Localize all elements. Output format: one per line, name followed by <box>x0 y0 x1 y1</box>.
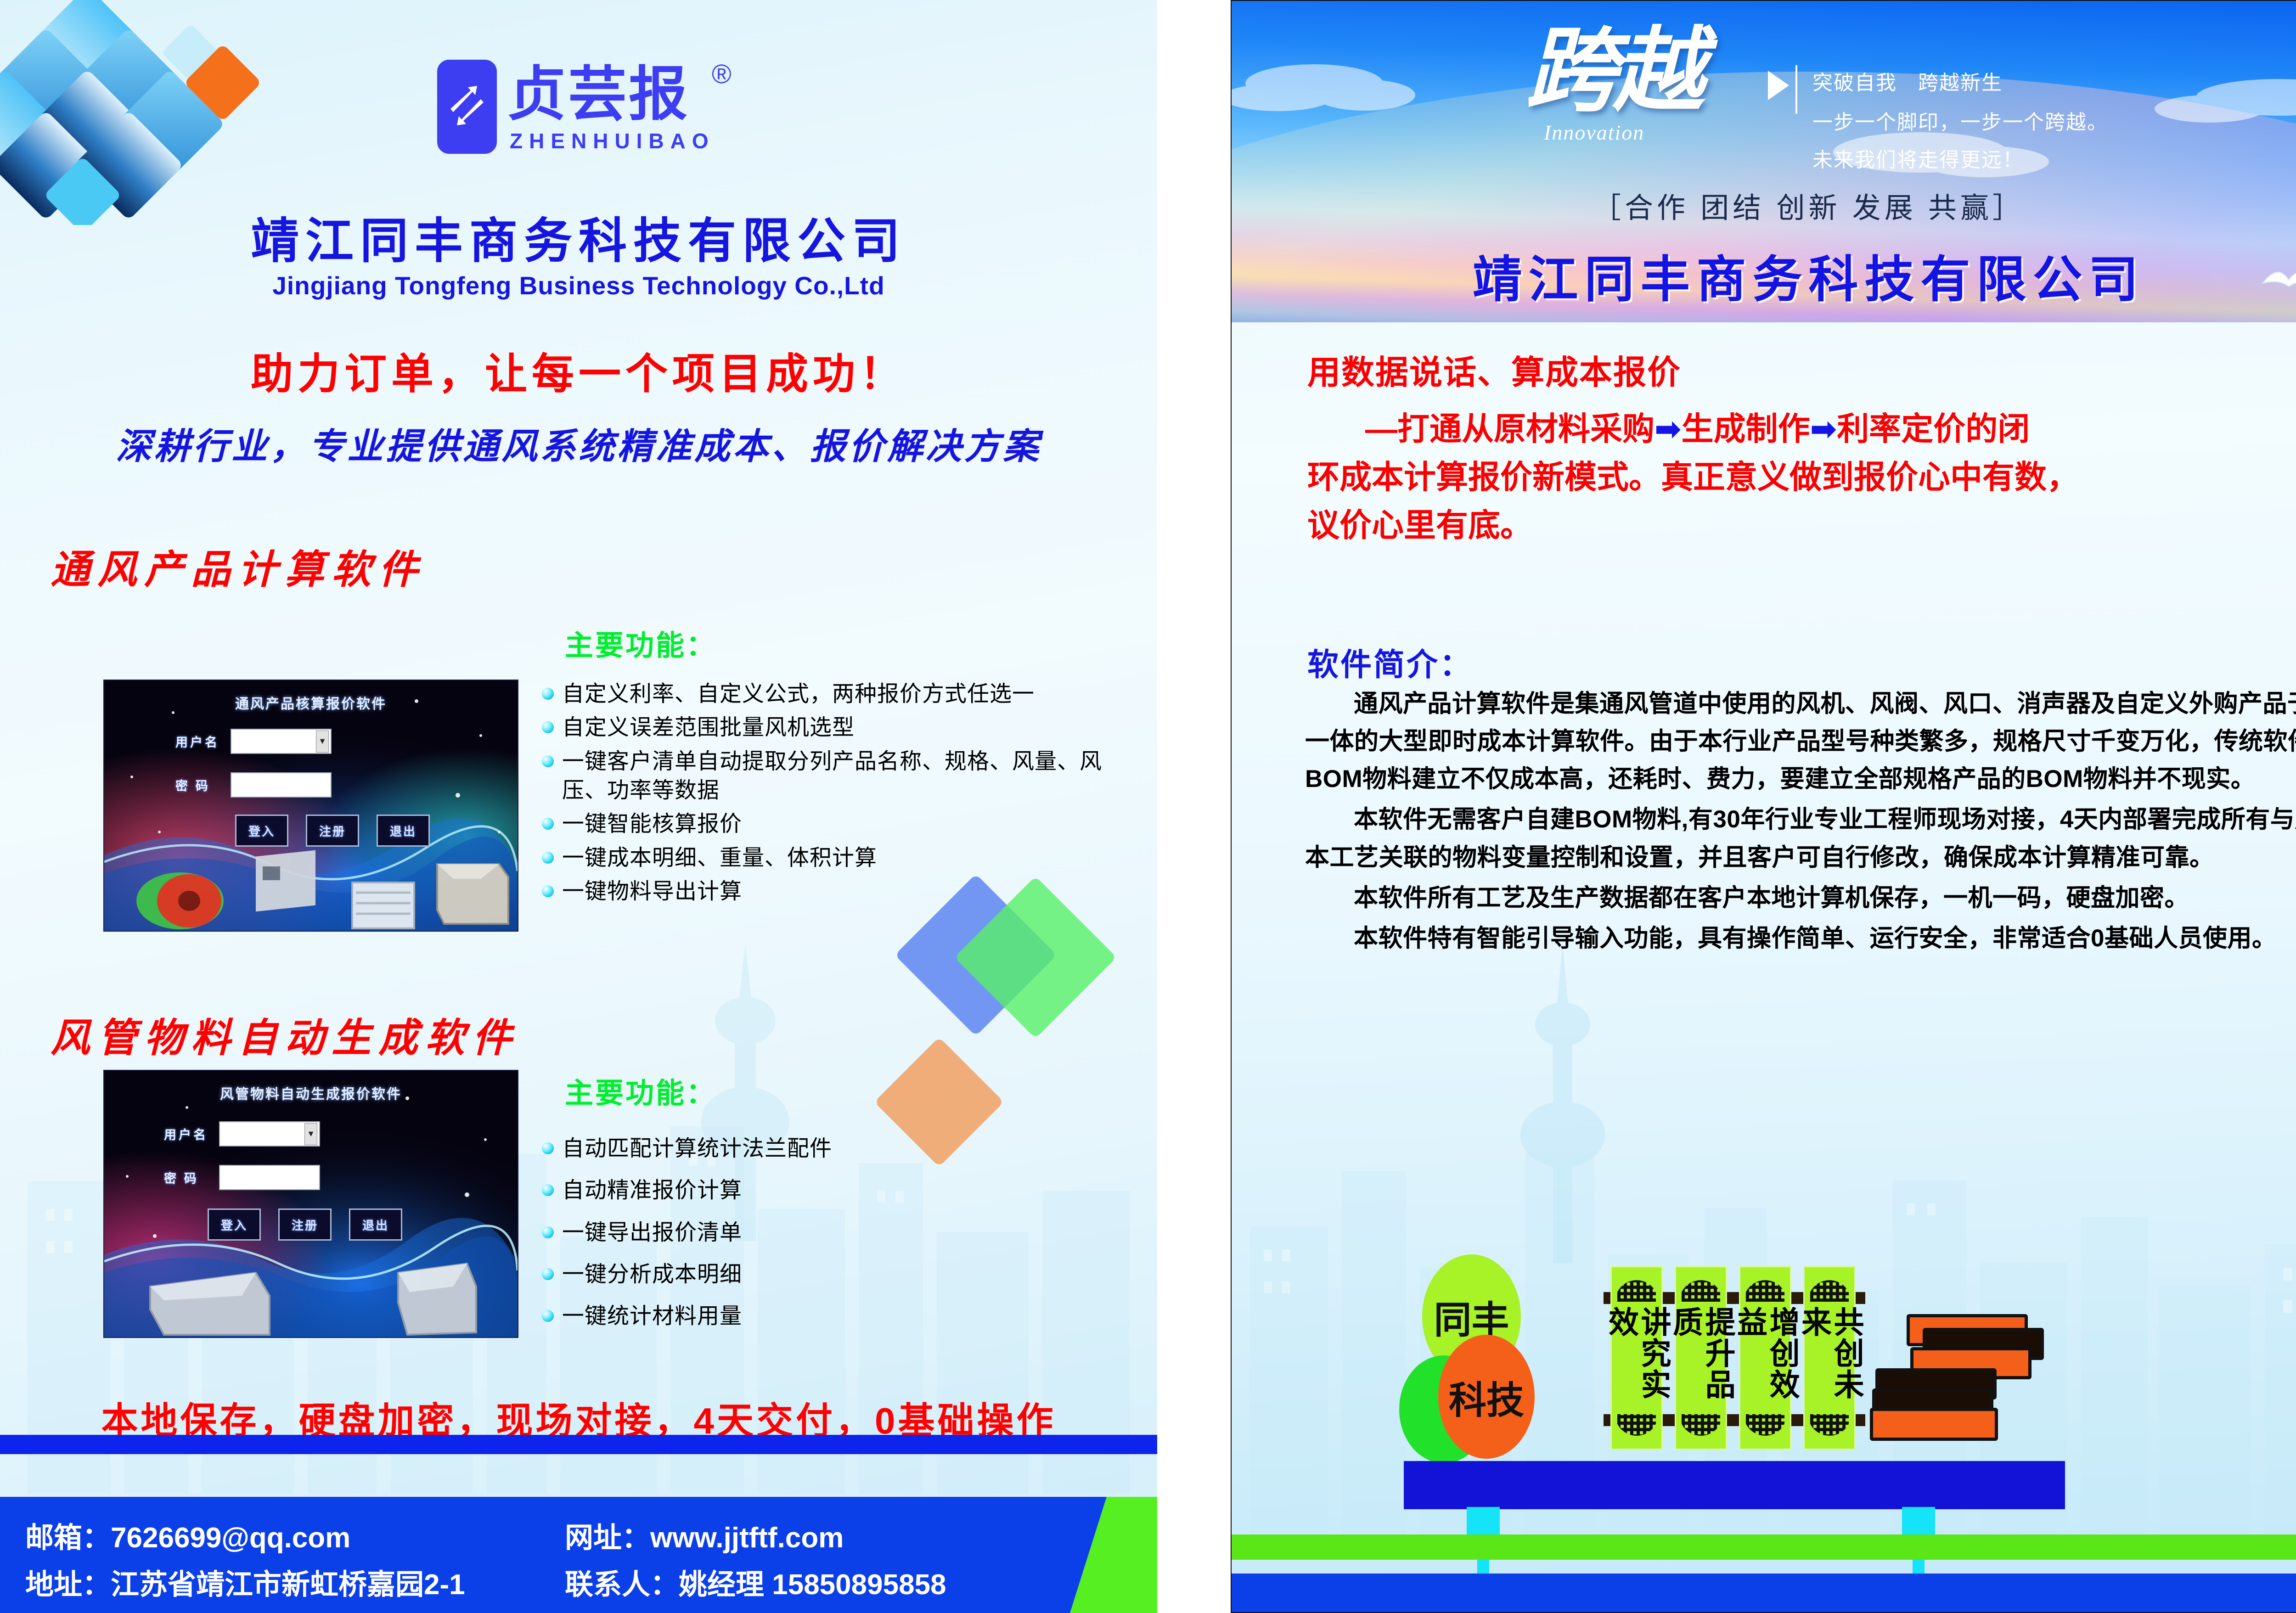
right-hero-banner: 跨越 Innovation 突破自我 跨越新生 一步一个脚印，一步一个跨越。 未… <box>1232 1 2296 322</box>
feature-text: 自动精准报价计算 <box>562 1176 742 1205</box>
section-2-features-heading: 主要功能： <box>565 1070 716 1111</box>
section-1-feature-list: 自定义利率、自定义公式，两种报价方式任选一 自定义误差范围批量风机选型 一键客户… <box>542 680 1125 911</box>
right-green-bar <box>1232 1534 2296 1560</box>
footer-address: 地址：江苏省靖江市新虹桥嘉园2-1 <box>25 1561 465 1602</box>
section-1-features-heading: 主要功能： <box>565 622 716 663</box>
arrow-right-icon-1: ➡ <box>1654 411 1682 447</box>
feature-text: 一键智能核算报价 <box>562 809 742 838</box>
banner-1-text: 讲究实效 <box>1604 1306 1669 1410</box>
right-red-paragraph: —打通从原材料采购➡生成制作➡利率定价的闭 环成本计算报价新模式。真正意义做到报… <box>1307 405 2296 550</box>
list-item: 一键统计材料用量 <box>542 1302 1125 1331</box>
bullet-icon <box>542 688 554 700</box>
section-2-title: 风管物料自动生成软件 <box>51 1006 519 1063</box>
screenshot-2-register-button[interactable]: 注册 <box>278 1208 332 1241</box>
list-item: 一键分析成本明细 <box>542 1260 1125 1289</box>
feature-text: 一键成本明细、重量、体积计算 <box>562 843 877 872</box>
bullet-icon <box>542 1268 554 1280</box>
screenshot-2-title: 风管物料自动生成报价软件 <box>104 1083 518 1103</box>
bottom-illustration: 同丰 科技 讲究实效 提升品质 增创效益 <box>1383 1222 2164 1585</box>
feature-text: 一键客户清单自动提取分列产品名称、规格、风量、风压、功率等数据 <box>562 747 1125 805</box>
right-blue-bar <box>1232 1574 2296 1613</box>
left-company-name-cn: 靖江同丰商务科技有限公司 <box>0 202 1157 272</box>
screenshot-2-password-label: 密 码 <box>164 1169 219 1186</box>
left-company-name-en: Jingjiang Tongfeng Business Technology C… <box>0 271 1157 300</box>
bubble-tongfeng-label: 同丰 <box>1434 1289 1509 1344</box>
bullet-icon <box>542 885 554 897</box>
intro-paragraph-4: 本软件特有智能引导输入功能，具有操作简单、运行安全，非常适合0基础人员使用。 <box>1305 920 2296 957</box>
feature-text: 自定义误差范围批量风机选型 <box>562 713 855 742</box>
intro-paragraph-2: 本软件无需客户自建BOM物料,有30年行业专业工程师现场对接，4天内部署完成所有… <box>1305 801 2296 876</box>
logo-english-text: ZHENHUIBAO <box>510 129 715 153</box>
diamond-mosaic-decoration <box>0 0 262 225</box>
banner-4-text: 共创未来 <box>1797 1306 1862 1410</box>
feature-text: 一键导出报价清单 <box>562 1218 742 1247</box>
footer-contact-label: 联系人： <box>565 1569 679 1601</box>
list-item: 一键成本明细、重量、体积计算 <box>542 843 1125 872</box>
banner-ornament-icon <box>1810 1272 1849 1302</box>
screenshot-2-password-input[interactable] <box>219 1165 320 1190</box>
banner-ornament-icon <box>1810 1414 1849 1444</box>
chevron-down-icon[interactable]: ▼ <box>304 1123 317 1145</box>
screenshot-1-password-label: 密 码 <box>175 776 231 794</box>
footer-address-value: 江苏省靖江市新虹桥嘉园2-1 <box>111 1569 465 1601</box>
banner-ornament-icon <box>1617 1272 1656 1302</box>
footer-email: 邮箱：7626699@qq.com <box>25 1514 350 1556</box>
list-item: 自定义误差范围批量风机选型 <box>542 713 1125 742</box>
list-item: 一键客户清单自动提取分列产品名称、规格、风量、风压、功率等数据 <box>542 747 1125 805</box>
feature-text: 一键分析成本明细 <box>562 1260 742 1289</box>
screenshot-1-password-input[interactable] <box>231 772 332 798</box>
registered-trademark-icon: ® <box>712 59 732 90</box>
bullet-icon <box>542 755 554 767</box>
red-flow-part2: 生成制作 <box>1682 411 1810 447</box>
screenshot-1-username-input[interactable]: ▼ <box>231 729 332 754</box>
list-item: 自动匹配计算统计法兰配件 <box>542 1134 1125 1163</box>
banner-ornament-icon <box>1682 1414 1720 1444</box>
seagull-icon <box>2260 258 2296 299</box>
screenshot-1-title: 通风产品核算报价软件 <box>104 692 518 713</box>
bullet-icon <box>542 1226 554 1238</box>
footer-contact-value[interactable]: 姚经理 15850895858 <box>679 1569 946 1601</box>
footer-website: 网址：www.jjtftf.com <box>565 1514 844 1556</box>
section-2-feature-list: 自动匹配计算统计法兰配件 自动精准报价计算 一键导出报价清单 一键分析成本明细 … <box>542 1134 1125 1336</box>
banner-1: 讲究实效 <box>1610 1266 1663 1450</box>
hero-kuayue-text: 跨越 <box>1525 26 1700 118</box>
book-orange-3 <box>1870 1408 1998 1441</box>
feature-text: 一键统计材料用量 <box>562 1302 742 1331</box>
left-slogan-red: 助力订单，让每一个项目成功！ <box>0 340 1157 401</box>
banner-4: 共创未来 <box>1803 1266 1856 1450</box>
banner-ornament-icon <box>1746 1414 1784 1444</box>
footer-address-label: 地址： <box>25 1569 111 1601</box>
screenshot-1-login-button[interactable]: 登入 <box>235 815 288 847</box>
banner-2-text: 提升品质 <box>1668 1306 1733 1410</box>
section-1-title: 通风产品计算软件 <box>51 537 425 595</box>
footer-email-label: 邮箱： <box>25 1522 111 1554</box>
screenshot-2-login-button[interactable]: 登入 <box>208 1208 261 1241</box>
left-slogan-blue: 深耕行业，专业提供通风系统精准成本、报价解决方案 <box>0 418 1157 469</box>
hero-innovation-text: Innovation <box>1544 120 1644 145</box>
bubble-keji-label: 科技 <box>1449 1370 1524 1424</box>
screenshot-2-username-label: 用户名 <box>164 1125 219 1143</box>
bullet-icon <box>542 721 554 733</box>
intro-paragraph-3: 本软件所有工艺及生产数据都在客户本地计算机保存，一机一码，硬盘加密。 <box>1305 879 2296 917</box>
footer-email-value[interactable]: 7626699@qq.com <box>111 1522 350 1554</box>
logo-mark-icon <box>437 60 497 154</box>
right-intro-heading: 软件简介： <box>1307 639 1473 685</box>
bullet-icon <box>542 1310 554 1322</box>
screenshot-2-username-input[interactable]: ▼ <box>219 1121 320 1147</box>
red-flow-part4: 环成本计算报价新模式。真正意义做到报价心中有数， <box>1307 453 2296 501</box>
bullet-icon <box>542 852 554 864</box>
logo-chinese-text: 贞芸报 <box>507 65 689 124</box>
screenshot-2-exit-button[interactable]: 退出 <box>349 1208 402 1241</box>
feature-text: 自动匹配计算统计法兰配件 <box>562 1134 832 1163</box>
banner-ornament-icon <box>1682 1272 1720 1302</box>
left-footer: 邮箱：7626699@qq.com 网址：www.jjtftf.com 地址：江… <box>0 1497 1157 1613</box>
bullet-icon <box>542 1184 554 1196</box>
hero-subtitle-2: 一步一个脚印，一步一个跨越。 <box>1812 106 2108 135</box>
banner-2: 提升品质 <box>1675 1266 1727 1450</box>
bubble-keji: 科技 <box>1438 1335 1535 1459</box>
right-red-headline: 用数据说话、算成本报价 <box>1307 345 1681 393</box>
screenshot-1-exit-button[interactable]: 退出 <box>377 815 430 847</box>
banner-ornament-icon <box>1746 1272 1784 1302</box>
brand-logo: 贞芸报 ® ZHENHUIBAO <box>427 41 804 179</box>
banner-ornament-icon <box>1617 1414 1656 1444</box>
list-item: 一键导出报价清单 <box>542 1218 1125 1247</box>
screenshot-1-register-button[interactable]: 注册 <box>306 815 359 847</box>
intro-paragraph-1: 通风产品计算软件是集通风管道中使用的风机、风阀、风口、消声器及自定义外购产品于一… <box>1305 685 2296 798</box>
footer-website-value[interactable]: www.jjtftf.com <box>650 1522 844 1554</box>
list-item: 一键智能核算报价 <box>542 809 1125 838</box>
arrow-right-icon-2: ➡ <box>1810 411 1837 447</box>
red-flow-part5: 议价心里有底。 <box>1307 501 2296 550</box>
play-arrow-icon <box>1768 71 1789 100</box>
chevron-down-icon[interactable]: ▼ <box>316 731 329 753</box>
footer-contact: 联系人：姚经理 15850895858 <box>565 1561 946 1602</box>
feature-text: 自定义利率、自定义公式，两种报价方式任选一 <box>562 680 1035 708</box>
right-intro-body: 通风产品计算软件是集通风管道中使用的风机、风阀、风口、消声器及自定义外购产品于一… <box>1305 685 2296 960</box>
banner-3: 增创效益 <box>1739 1266 1791 1450</box>
shelf-bar <box>1404 1461 2065 1509</box>
hero-subtitle-3: 未来我们将走得更远！ <box>1812 143 2024 173</box>
left-panel: 贞芸报 ® ZHENHUIBAO 靖江同丰商务科技有限公司 Jingjiang … <box>0 0 1157 1613</box>
divider-bar-top <box>0 1435 1157 1454</box>
screenshot-1-username-label: 用户名 <box>175 732 231 750</box>
bullet-icon <box>542 1142 554 1154</box>
hero-core-values: ［合作 团结 创新 发展 共赢］ <box>1232 185 2296 226</box>
software-screenshot-2: 风管物料自动生成报价软件 用户名 ▼ 密 码 登入 注册 退出 <box>103 1070 518 1338</box>
software-screenshot-1: 通风产品核算报价软件 用户名 ▼ 密 码 登入 注册 退出 <box>103 680 518 932</box>
right-company-name: 靖江同丰商务科技有限公司 <box>1232 240 2296 311</box>
list-item: 自定义利率、自定义公式，两种报价方式任选一 <box>542 680 1125 708</box>
red-flow-part3: 利率定价的闭 <box>1837 411 2030 447</box>
right-panel: 跨越 Innovation 突破自我 跨越新生 一步一个脚印，一步一个跨越。 未… <box>1231 0 2296 1613</box>
red-flow-part1: —打通从原材料采购 <box>1365 411 1654 447</box>
hero-vertical-divider <box>1795 65 1797 114</box>
list-item: 自动精准报价计算 <box>542 1176 1125 1205</box>
bullet-icon <box>542 818 554 830</box>
footer-website-label: 网址： <box>565 1522 650 1554</box>
feature-text: 一键物料导出计算 <box>562 877 742 906</box>
hero-subtitle-1: 突破自我 跨越新生 <box>1812 66 2003 96</box>
flyer-page: 贞芸报 ® ZHENHUIBAO 靖江同丰商务科技有限公司 Jingjiang … <box>0 0 2296 1613</box>
footer-green-accent <box>1070 1497 1157 1613</box>
banner-3-text: 增创效益 <box>1733 1306 1797 1410</box>
